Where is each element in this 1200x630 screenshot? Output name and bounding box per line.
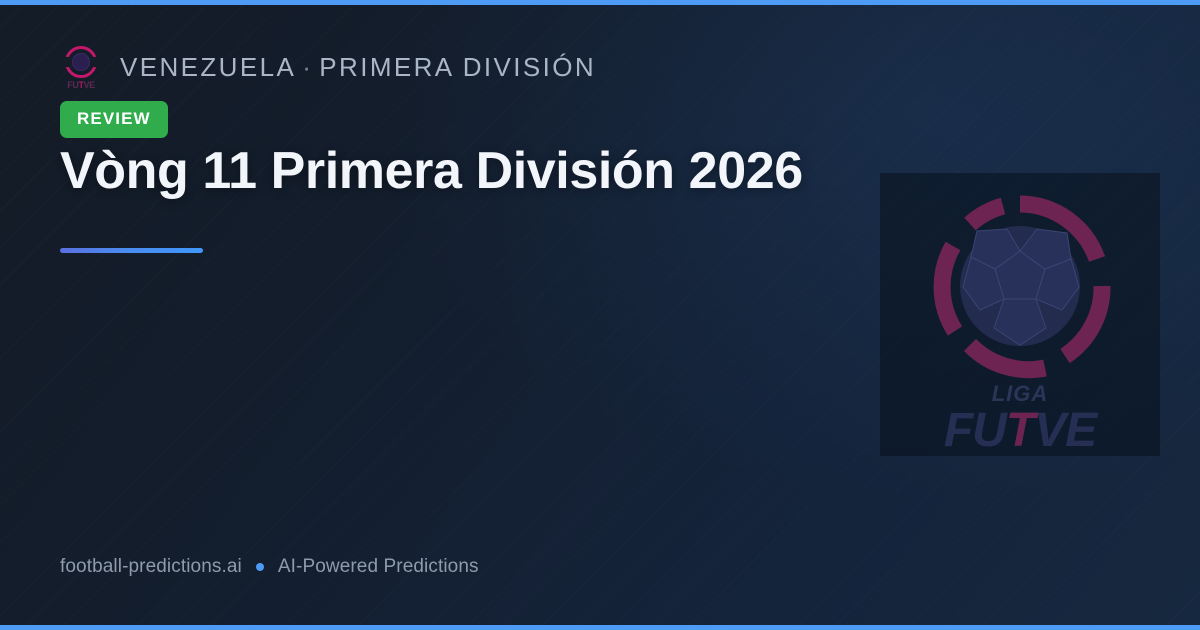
status-badge: REVIEW [60,101,168,138]
league-logo-panel: LIGA FUTVE [880,173,1160,456]
competition-label: PRIMERA DIVISIÓN [319,52,596,82]
breadcrumb-separator: · [296,52,319,82]
logo-wordmark: LIGA FUTVE [900,383,1140,455]
logo-svg [925,191,1115,381]
wordmark-futve-pre: FU [944,404,1006,456]
blue-dot-icon [256,563,264,571]
liga-futve-logo: LIGA FUTVE [900,191,1140,441]
site-name: football-predictions.ai [60,556,242,578]
wordmark-futve: FUTVE [900,407,1140,455]
wordmark-futve-post: VE [1034,404,1096,456]
ball-shape-icon [72,53,90,71]
league-breadcrumb: FUTVE VENEZUELA·PRIMERA DIVISIÓN [60,44,596,90]
title-accent-underline [60,248,203,253]
og-card: FUTVE VENEZUELA·PRIMERA DIVISIÓN REVIEW … [0,0,1200,630]
wordmark-futve-highlight: T [1006,404,1034,456]
small-wordmark: FUTVE [60,80,102,90]
country-label: VENEZUELA [120,52,296,82]
tagline: AI-Powered Predictions [278,556,479,578]
liga-futve-small-icon: FUTVE [60,44,102,90]
wordmark-liga: LIGA [900,383,1140,405]
league-breadcrumb-text: VENEZUELA·PRIMERA DIVISIÓN [120,52,596,83]
logo-ring-and-ball [925,191,1115,381]
content-column: FUTVE VENEZUELA·PRIMERA DIVISIÓN REVIEW … [60,0,860,630]
footer: football-predictions.ai AI-Powered Predi… [60,556,479,578]
page-title: Vòng 11 Primera División 2026 [60,141,860,202]
